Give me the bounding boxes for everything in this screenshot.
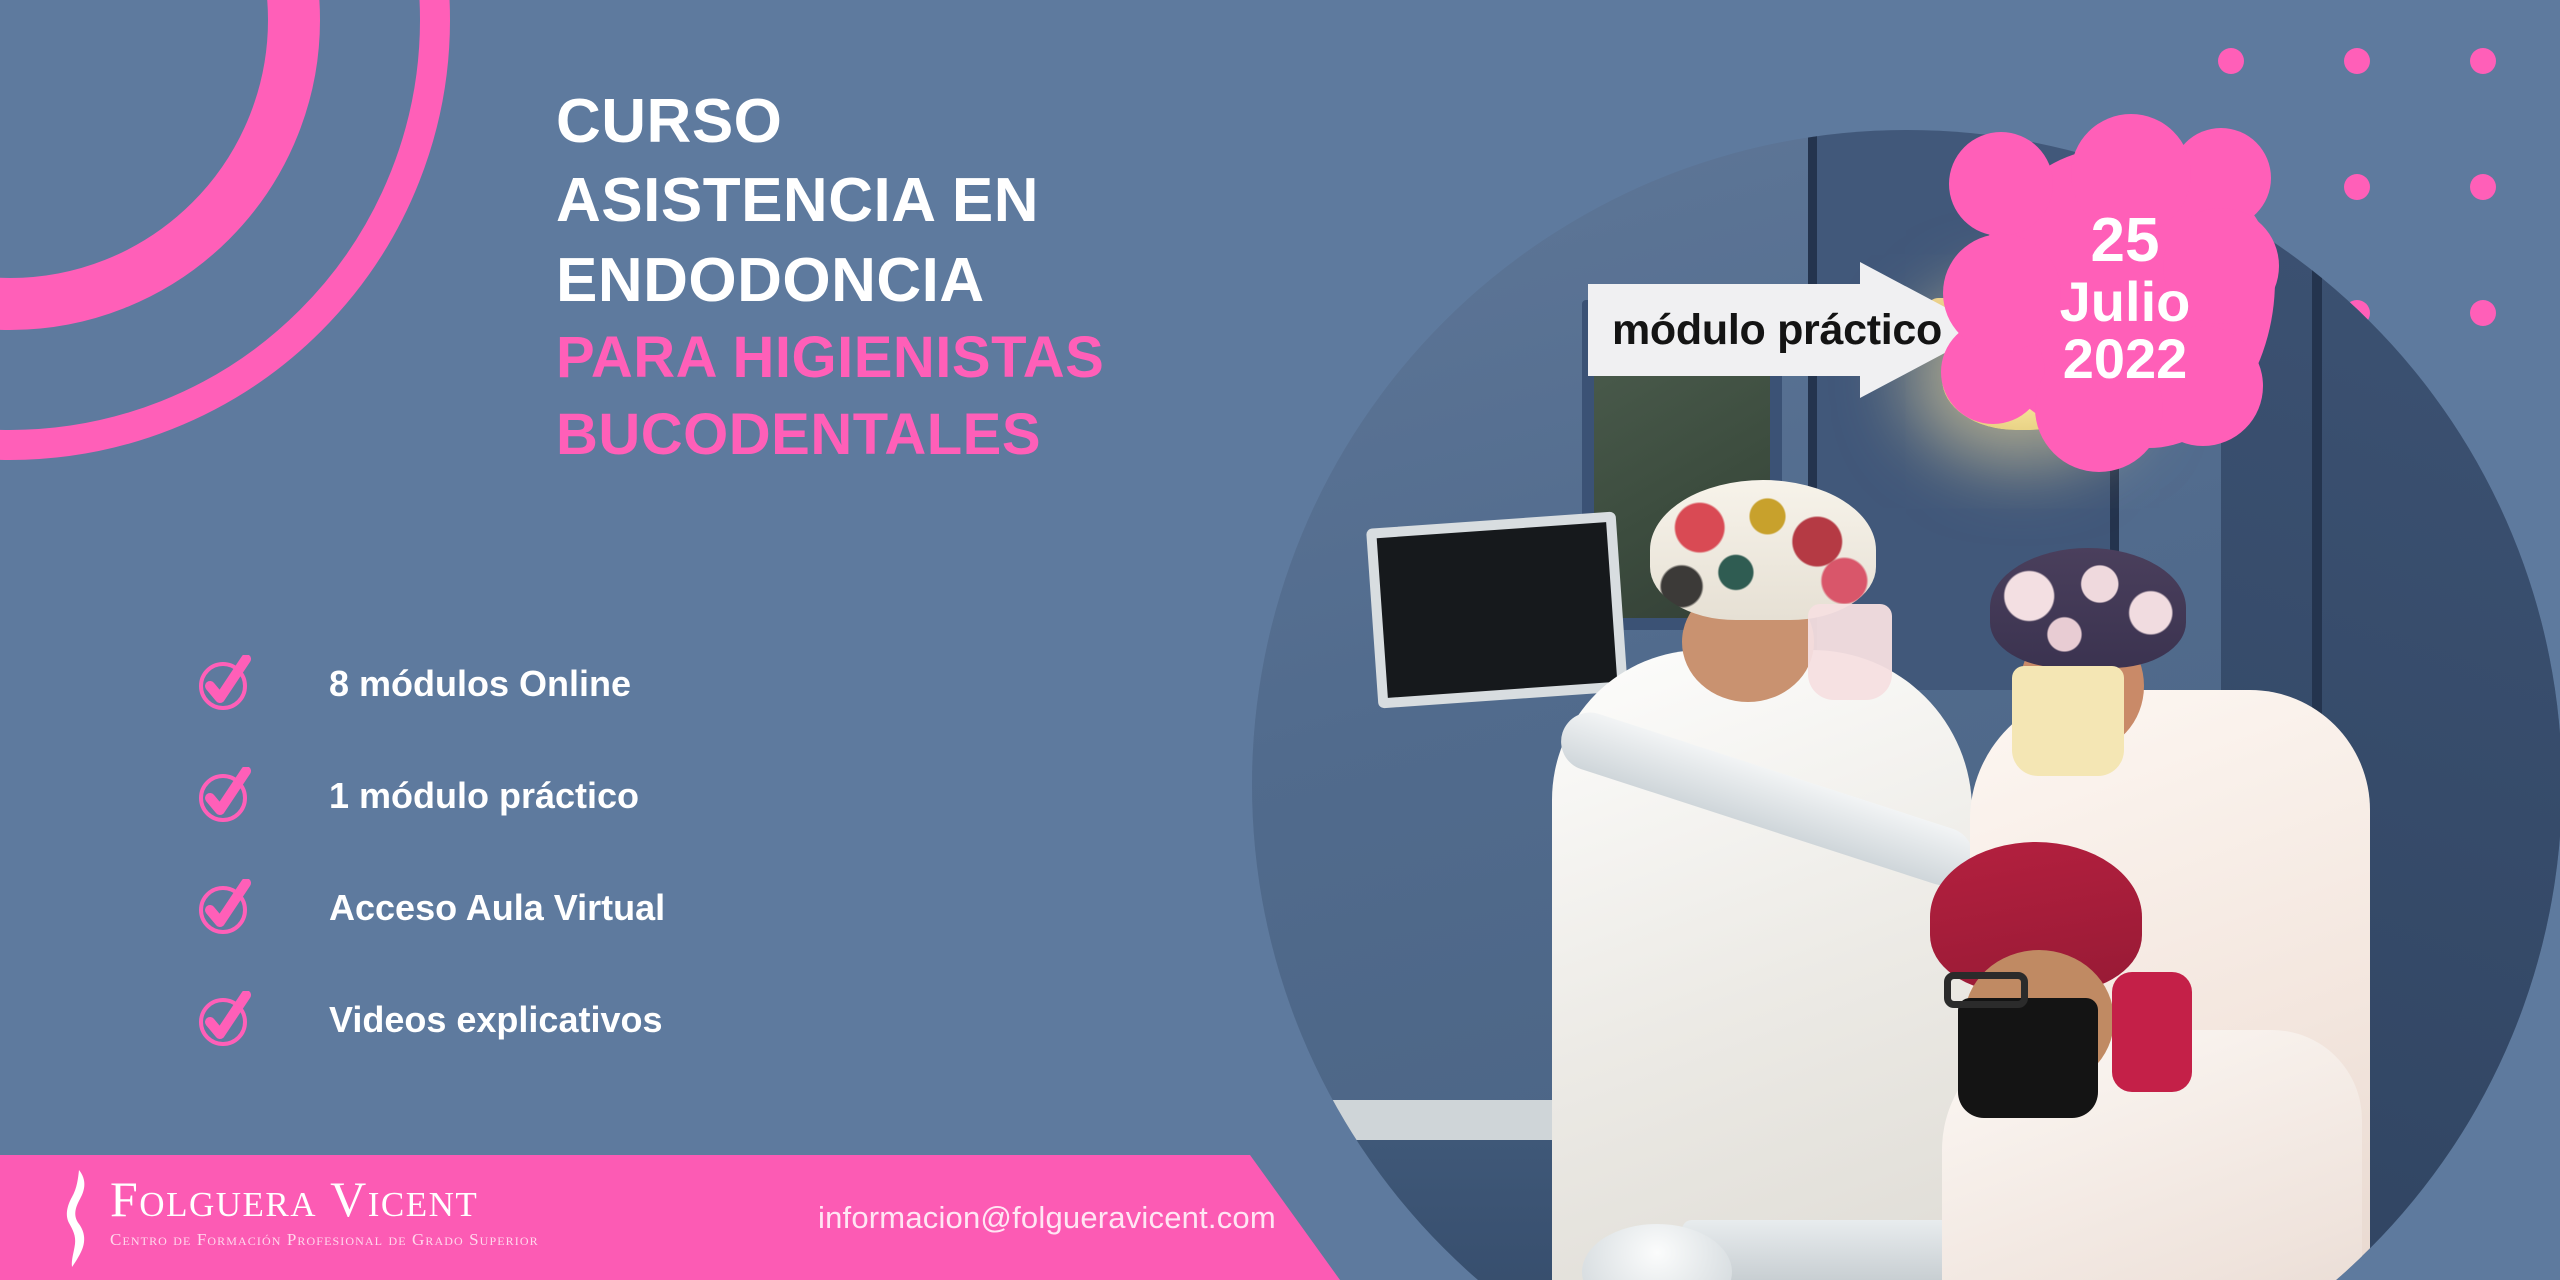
check-circle-icon: [196, 879, 254, 937]
headline-block: CURSO ASISTENCIA EN ENDODONCIA PARA HIGI…: [556, 82, 1436, 473]
pink-dot: [2218, 48, 2244, 74]
contact-email: informacion@folgueravicent.com: [818, 1200, 1276, 1236]
date-badge: 25 Julio 2022: [1975, 148, 2275, 448]
logo-tagline: Centro de Formación Profesional de Grado…: [110, 1230, 539, 1250]
pink-dot: [2344, 48, 2370, 74]
check-circle-icon: [196, 767, 254, 825]
pink-arc-thick-icon: [0, 0, 320, 330]
pink-dot: [2470, 48, 2496, 74]
feature-row: 8 módulos Online: [196, 628, 1096, 740]
feature-label: Acceso Aula Virtual: [329, 887, 665, 929]
feature-label: 8 módulos Online: [329, 663, 631, 705]
feature-row: Videos explicativos: [196, 964, 1096, 1076]
headline-accent-line-1: PARA HIGIENISTAS: [556, 320, 1436, 397]
arrow-banner-label: módulo práctico: [1588, 306, 1942, 355]
headline-accent-line-2: BUCODENTALES: [556, 397, 1436, 474]
headline-line-3: ENDODONCIA: [556, 241, 1436, 320]
date-year: 2022: [2063, 330, 2188, 387]
headline-line-2: ASISTENCIA EN: [556, 161, 1436, 240]
headline-line-1: CURSO: [556, 82, 1436, 161]
promotional-banner: módulo práctico 25 Julio 2022 CURSO ASIS…: [0, 0, 2560, 1280]
pink-arc-thin-icon: [0, 0, 450, 460]
feature-row: Acceso Aula Virtual: [196, 852, 1096, 964]
logo: Folguera Vicent Centro de Formación Prof…: [62, 1168, 539, 1268]
feature-list: 8 módulos Online1 módulo prácticoAcceso …: [196, 628, 1096, 1076]
badge-lobe: [1943, 234, 2061, 352]
date-month: Julio: [2060, 273, 2191, 330]
logo-name: Folguera Vicent: [110, 1174, 539, 1224]
feature-row: 1 módulo práctico: [196, 740, 1096, 852]
check-circle-icon: [196, 655, 254, 713]
check-circle-icon: [196, 991, 254, 1049]
feature-label: 1 módulo práctico: [329, 775, 639, 817]
brush-stroke-mark-icon: [62, 1168, 96, 1268]
badge-lobe: [1949, 132, 2053, 236]
feature-label: Videos explicativos: [329, 999, 663, 1041]
date-day: 25: [2091, 209, 2160, 272]
